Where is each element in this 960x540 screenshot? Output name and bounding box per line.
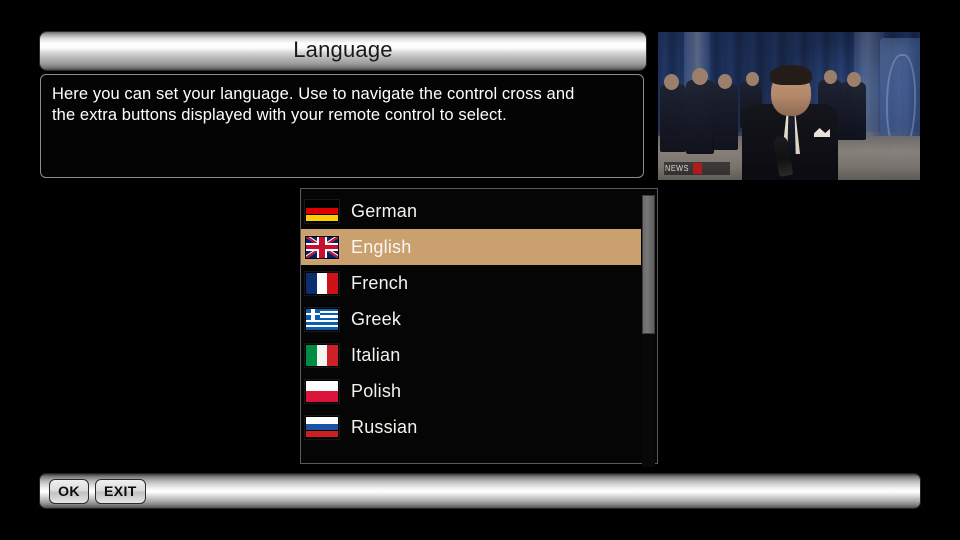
exit-button-label: EXIT [104,484,137,498]
preview-crowd-head [718,74,732,89]
flag-italy-icon [305,344,339,367]
list-item[interactable]: German [301,193,657,229]
list-item[interactable]: Greek [301,301,657,337]
list-item-label: Russian [351,418,417,436]
list-item[interactable]: Russian [301,409,657,445]
preview-crowd-figure [660,84,686,152]
live-tv-preview[interactable]: NEWS [658,32,920,180]
flag-france-icon [305,272,339,295]
list-item[interactable]: French [301,265,657,301]
flag-germany-icon [305,200,339,223]
list-item-label: French [351,274,408,292]
help-text: Here you can set your language. Use to n… [52,84,631,126]
broadcaster-logo: NEWS [664,162,730,175]
softkey-bar: OK EXIT [40,474,920,508]
flag-united-kingdom-icon [305,236,339,259]
language-list: German English French Greek [301,193,657,463]
list-item-label: English [351,238,411,256]
preview-crowd-figure [840,82,866,140]
help-text-panel: Here you can set your language. Use to n… [40,74,644,178]
preview-reporter-hair [770,65,812,85]
preview-crowd-head [664,74,679,90]
exit-button[interactable]: EXIT [95,479,146,504]
list-item-label: Italian [351,346,400,364]
list-item[interactable]: Italian [301,337,657,373]
preview-crowd-head [746,72,759,86]
preview-crowd-head [692,68,708,85]
language-list-panel[interactable]: German English French Greek [300,188,658,464]
tv-settings-screen: Language Here you can set your language.… [0,0,960,540]
flag-poland-icon [305,380,339,403]
preview-crowd-figure [712,84,738,150]
preview-crowd-head [824,70,837,84]
preview-crowd-head [847,72,861,87]
broadcaster-logo-text: NEWS [665,164,689,173]
list-item-label: Greek [351,310,401,328]
flag-greece-icon [305,308,339,331]
preview-crowd-figure [686,80,714,154]
flag-russia-icon [305,416,339,439]
list-item-label: German [351,202,417,220]
list-item[interactable]: English [301,229,641,265]
list-scrollbar-thumb[interactable] [642,195,655,334]
list-item[interactable]: Polish [301,373,657,409]
page-title-bar: Language [40,32,646,70]
ok-button[interactable]: OK [49,479,89,504]
broadcaster-logo-mark [693,163,702,174]
list-item-label: Polish [351,382,401,400]
list-scrollbar-track[interactable] [642,195,655,467]
ok-button-label: OK [58,484,80,498]
page-title: Language [293,39,392,63]
